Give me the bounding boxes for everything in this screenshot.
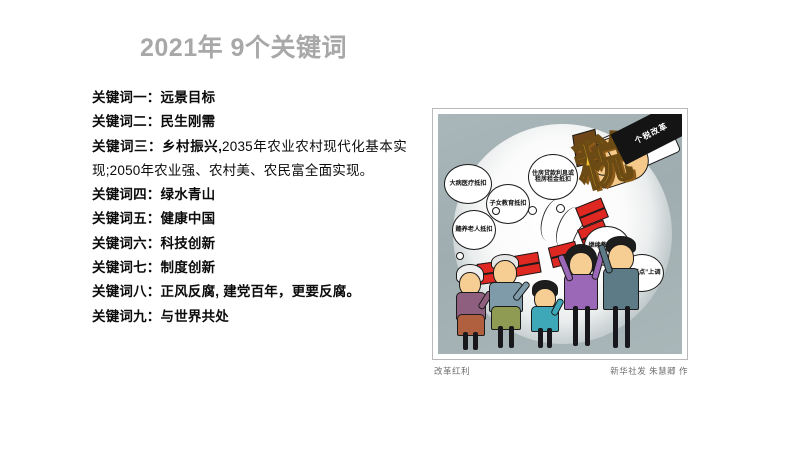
list-item: 关键词一：远景目标 — [92, 86, 407, 110]
caption-credit: 新华社发 朱慧卿 作 — [610, 365, 688, 377]
keyword-value: 健康中国 — [161, 211, 216, 226]
bubble-tail-dot — [492, 207, 500, 215]
list-item: 关键词六：科技创新 — [92, 232, 407, 256]
figure-caption: 改革红利 新华社发 朱慧卿 作 — [432, 365, 690, 377]
keyword-value: 远景目标 — [161, 90, 216, 105]
bubble-major-illness-deduction: 大病医疗抵扣 — [444, 164, 492, 204]
keyword-label: 关键词八： — [92, 284, 161, 299]
bubble-tail-dot — [456, 252, 464, 260]
illustration-frame: 大病医疗抵扣 子女教育抵扣 住房贷款利息或租房租金抵扣 赡养老人抵扣 继续教育抵… — [432, 108, 688, 360]
bubble-elderly-support-deduction: 赡养老人抵扣 — [452, 210, 496, 250]
person-woman — [562, 244, 600, 350]
keyword-value: 科技创新 — [161, 236, 216, 251]
keyword-value: 绿水青山 — [161, 187, 216, 202]
keyword-value: 与世界共处 — [161, 309, 230, 324]
keyword-value: 制度创新 — [161, 260, 216, 275]
keyword-value: 乡村振兴, — [162, 139, 222, 154]
leg-icon — [509, 326, 514, 348]
tax-reform-cartoon: 大病医疗抵扣 子女教育抵扣 住房贷款利息或租房租金抵扣 赡养老人抵扣 继续教育抵… — [438, 114, 682, 354]
bubble-tail-dot — [556, 204, 565, 213]
bubble-children-education-deduction: 子女教育抵扣 — [486, 184, 530, 224]
page-title: 2021年 9个关键词 — [140, 28, 347, 64]
leg-icon — [463, 332, 468, 350]
leg-icon — [573, 306, 578, 346]
torso-icon — [603, 268, 639, 310]
keyword-label: 关键词四： — [92, 187, 161, 202]
keyword-value: 民生刚需 — [161, 114, 216, 129]
list-item: 关键词八：正风反腐, 建党百年，更要反腐。 — [92, 280, 407, 304]
keyword-label: 关键词五： — [92, 211, 161, 226]
leg-icon — [625, 306, 630, 348]
keyword-label: 关键词三： — [92, 139, 162, 154]
leg-icon — [473, 332, 478, 350]
keyword-label: 关键词二： — [92, 114, 161, 129]
leg-icon — [613, 306, 618, 348]
keyword-label: 关键词七： — [92, 260, 161, 275]
caption-title: 改革红利 — [434, 365, 470, 377]
lower-body-icon — [491, 306, 521, 330]
list-item: 关键词三：乡村振兴,2035年农业农村现代化基本实现;2050年农业强、农村美、… — [92, 135, 407, 184]
bubble-housing-loan-rent-deduction: 住房贷款利息或租房租金抵扣 — [528, 154, 578, 200]
keyword-label: 关键词六： — [92, 236, 161, 251]
person-man — [602, 236, 640, 350]
leg-icon — [585, 306, 590, 346]
skirt-icon — [457, 314, 485, 336]
leg-icon — [498, 326, 503, 348]
illustration-figure: 大病医疗抵扣 子女教育抵扣 住房贷款利息或租房租金抵扣 赡养老人抵扣 继续教育抵… — [432, 108, 690, 377]
list-item: 关键词九：与世界共处 — [92, 305, 407, 329]
list-item: 关键词四：绿水青山 — [92, 183, 407, 207]
keyword-value: 正风反腐, 建党百年，更要反腐。 — [161, 284, 361, 299]
list-item: 关键词五：健康中国 — [92, 207, 407, 231]
person-elderly-woman — [454, 264, 488, 350]
person-child — [530, 280, 560, 350]
list-item: 关键词二：民生刚需 — [92, 110, 407, 134]
bubble-tail-dot — [528, 206, 537, 215]
person-elderly-man — [488, 254, 524, 350]
keyword-label: 关键词九： — [92, 309, 161, 324]
keyword-label: 关键词一： — [92, 90, 161, 105]
keyword-list: 关键词一：远景目标 关键词二：民生刚需 关键词三：乡村振兴,2035年农业农村现… — [92, 86, 407, 329]
leg-icon — [538, 328, 543, 348]
leg-icon — [547, 328, 552, 348]
list-item: 关键词七：制度创新 — [92, 256, 407, 280]
